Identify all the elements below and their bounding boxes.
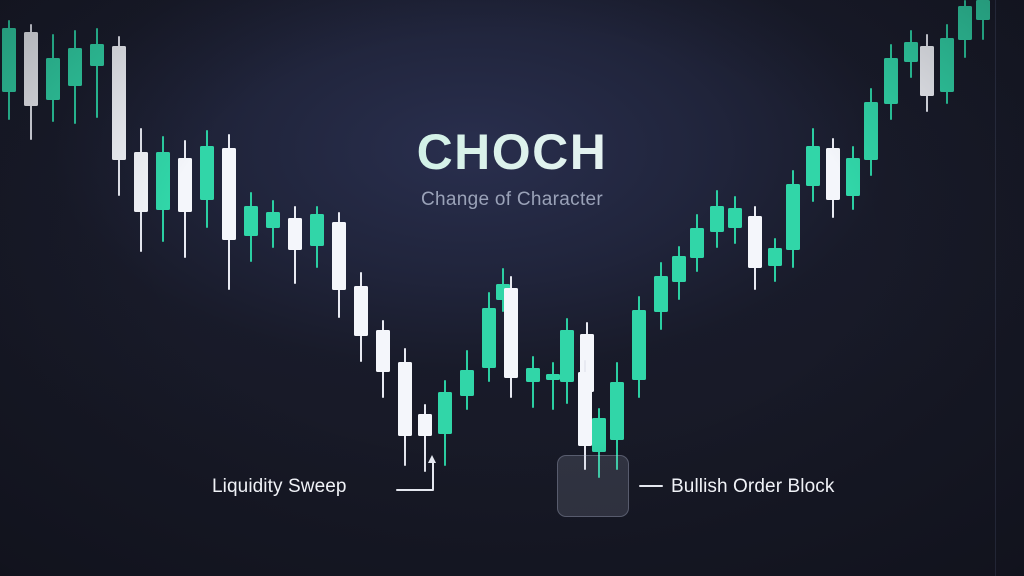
bullish-order-block-label: Bullish Order Block: [671, 476, 834, 498]
chart-vignette: [0, 0, 1024, 576]
order-block-leader-horizontal: [639, 485, 663, 487]
liquidity-sweep-leader-vertical: [432, 462, 434, 490]
choch-chart-screenshot: CHOCH Change of Character Liquidity Swee…: [0, 0, 1024, 576]
price-scale-separator: [995, 0, 996, 576]
liquidity-sweep-leader-horizontal: [396, 489, 434, 491]
bullish-order-block-highlight[interactable]: [557, 455, 629, 517]
liquidity-sweep-label: Liquidity Sweep: [212, 476, 347, 498]
liquidity-sweep-arrow-icon: [428, 455, 436, 463]
